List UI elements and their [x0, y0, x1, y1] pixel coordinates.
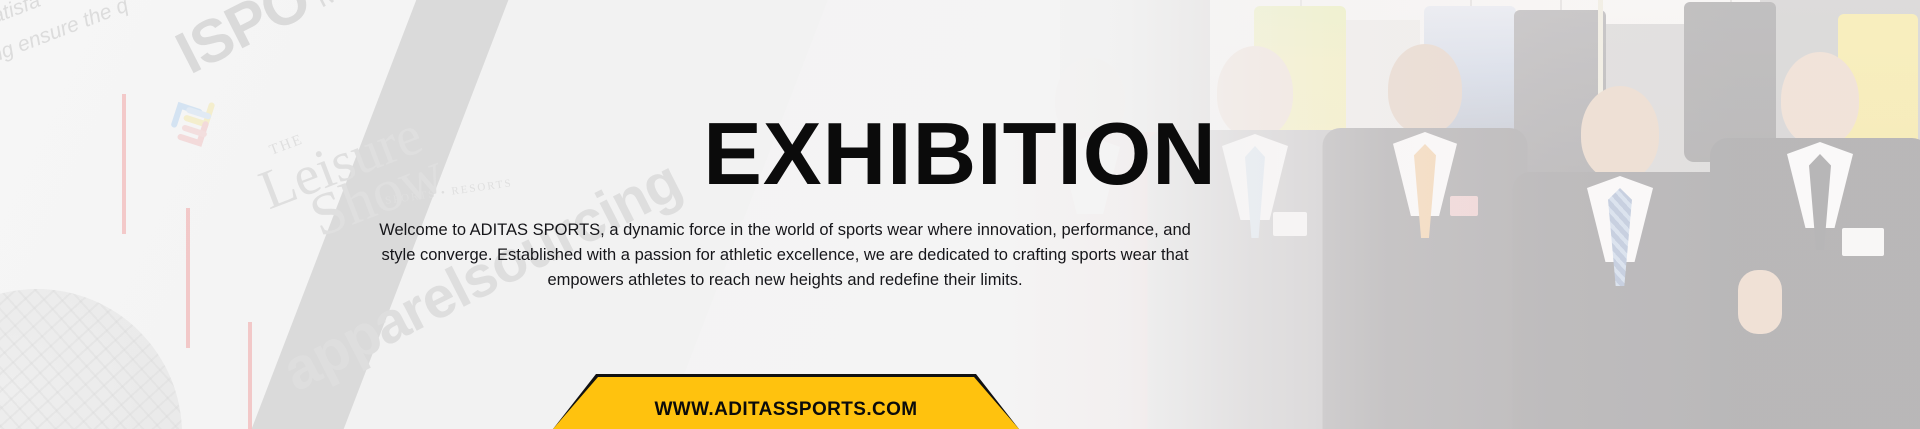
intro-paragraph: Welcome to ADITAS SPORTS, a dynamic forc…	[374, 218, 1196, 293]
page-title: EXHIBITION	[0, 110, 1920, 198]
exhibition-photo	[1000, 0, 1920, 429]
ispo-wordmark: ISPO	[165, 0, 321, 87]
fabric-circle-graphic	[0, 289, 182, 429]
exhibition-banner: e satisfa cturing ensure the q ISPO MUNI…	[0, 0, 1920, 429]
website-url-label[interactable]: WWW.ADITASSPORTS.COM	[553, 374, 1019, 429]
photo-scene	[1000, 0, 1920, 429]
watermark-top-text-2: cturing ensure the q	[0, 0, 132, 82]
pink-rule-3	[248, 322, 252, 429]
photo-fade-overlay	[1000, 0, 1920, 429]
pink-rule-2	[186, 208, 190, 348]
watermark-top-text-1: e satisfa	[0, 0, 44, 39]
